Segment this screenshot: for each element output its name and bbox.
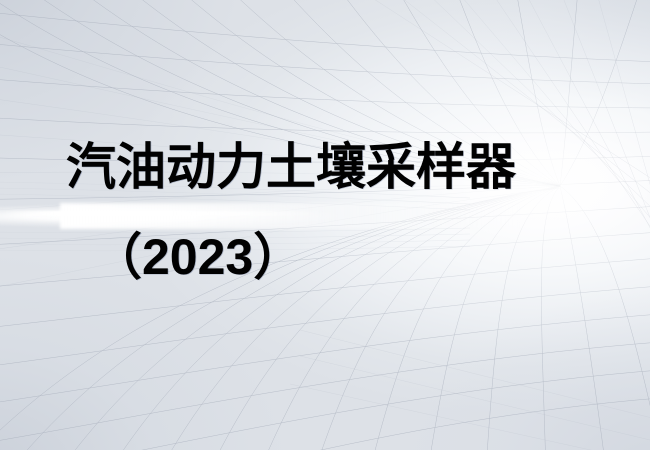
page-title-year: （2023） [92,232,303,282]
title-slide: 汽油动力土壤采样器 （2023） [0,0,650,450]
title-text-block: 汽油动力土壤采样器 （2023） [0,0,650,450]
page-title-primary: 汽油动力土壤采样器 [66,142,516,192]
